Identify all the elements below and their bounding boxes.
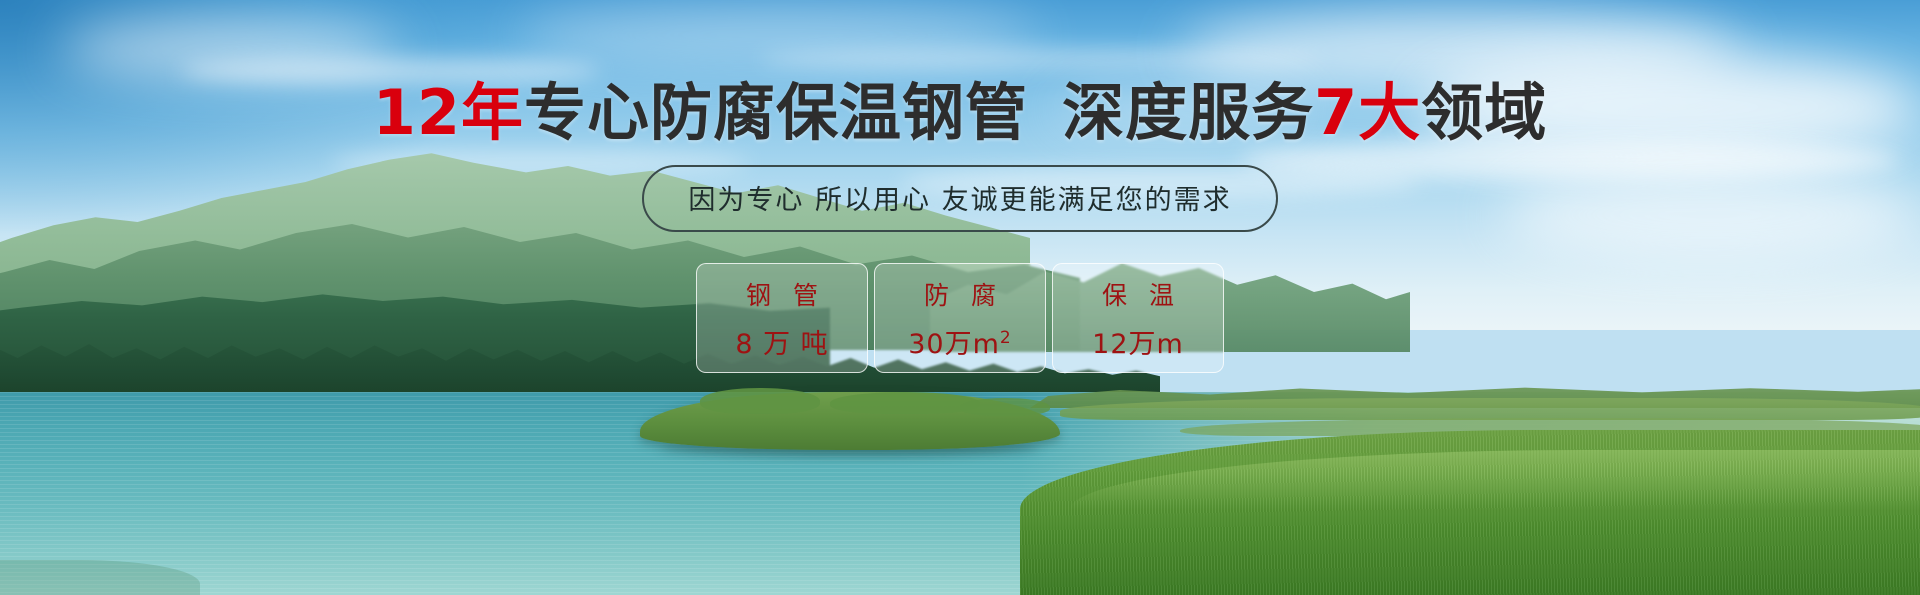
stat-card-insulation[interactable]: 保 温 12万m — [1052, 263, 1224, 373]
island-tuft — [700, 388, 820, 414]
headline-segment-service: 深度服务 — [1062, 76, 1314, 149]
subtitle-pill: 因为专心 所以用心 友诚更能满足您的需求 — [642, 165, 1277, 232]
headline-segment-seven: 7大 — [1314, 76, 1421, 149]
headline-segment-fields: 领域 — [1421, 76, 1547, 149]
stat-card-value-text: 30万m — [908, 329, 1000, 360]
stat-card-title: 保 温 — [1095, 276, 1181, 312]
promo-banner: 12年专心防腐保温钢管深度服务7大领域 因为专心 所以用心 友诚更能满足您的需求… — [0, 0, 1920, 595]
island-tuft — [830, 392, 980, 414]
stat-card-steel-pipe[interactable]: 钢 管 8 万 吨 — [696, 263, 868, 373]
headline-segment-focus: 专心防腐保温钢管 — [524, 76, 1028, 149]
subtitle-container: 因为专心 所以用心 友诚更能满足您的需求 — [0, 165, 1920, 232]
island-tuft — [960, 398, 1050, 416]
stat-card-value: 12万m — [1092, 322, 1184, 361]
stat-cards: 钢 管 8 万 吨 防 腐 30万m2 保 温 12万m — [0, 263, 1920, 373]
stat-card-title: 防 腐 — [917, 276, 1003, 312]
marsh-band — [1060, 398, 1920, 420]
headline: 12年专心防腐保温钢管深度服务7大领域 — [0, 82, 1920, 144]
stat-card-title: 钢 管 — [739, 276, 825, 312]
stat-card-anticorrosion[interactable]: 防 腐 30万m2 — [874, 263, 1046, 373]
headline-segment-years: 12年 — [373, 76, 524, 149]
stat-card-value: 8 万 吨 — [735, 322, 828, 361]
stat-card-value-superscript: 2 — [1000, 328, 1012, 348]
stat-card-value: 30万m2 — [908, 322, 1012, 361]
